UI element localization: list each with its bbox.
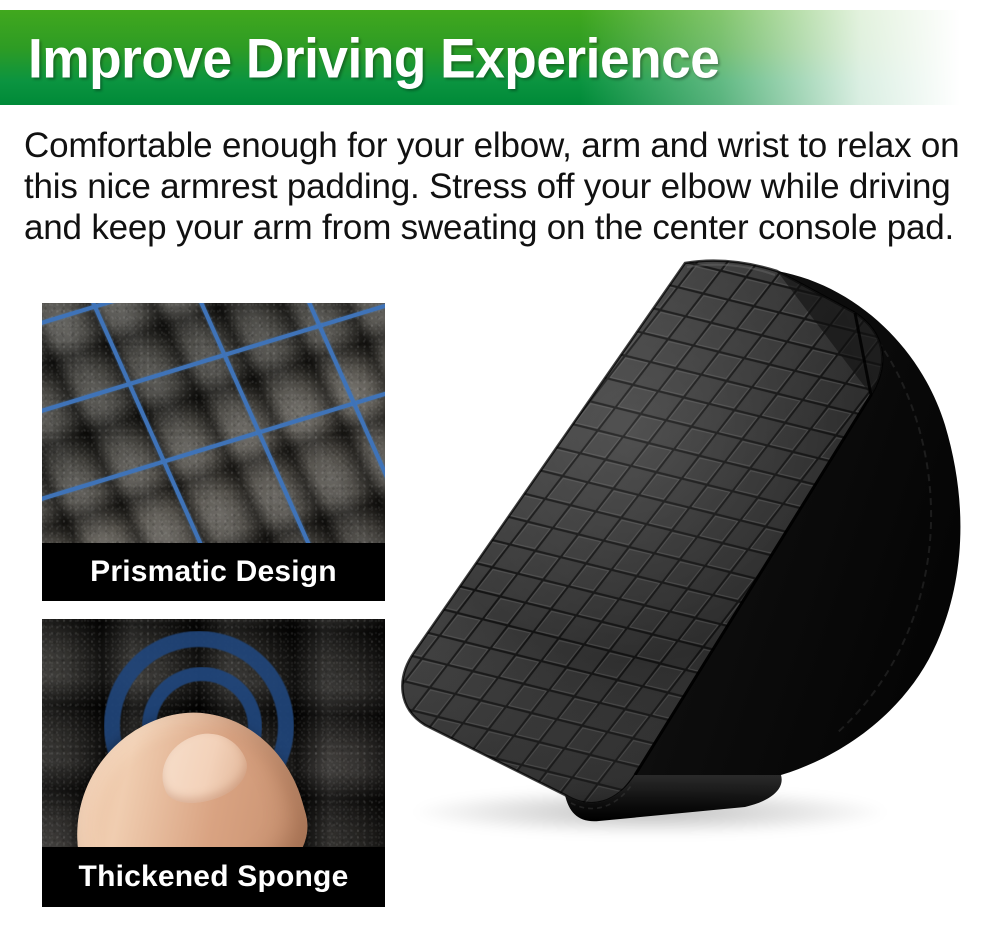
page-title: Improve Driving Experience: [28, 25, 719, 90]
prismatic-design-photo: [42, 303, 385, 543]
feature-card-prismatic-design: Prismatic Design: [42, 303, 385, 601]
feature-card-list: Prismatic Design Thickened Sponge: [42, 303, 385, 925]
hero-product-photo: [385, 255, 1000, 875]
blue-stitch-grid: [42, 303, 385, 543]
armrest-cover-illustration: [385, 255, 1000, 875]
thickened-sponge-photo: [42, 619, 385, 847]
description-paragraph: Comfortable enough for your elbow, arm a…: [24, 125, 974, 248]
thickened-sponge-caption: Thickened Sponge: [42, 847, 385, 907]
header-banner: Improve Driving Experience: [0, 10, 1000, 105]
prismatic-design-caption: Prismatic Design: [42, 543, 385, 601]
feature-card-thickened-sponge: Thickened Sponge: [42, 619, 385, 907]
product-drop-shadow: [415, 789, 885, 835]
description-text: Comfortable enough for your elbow, arm a…: [24, 125, 974, 248]
